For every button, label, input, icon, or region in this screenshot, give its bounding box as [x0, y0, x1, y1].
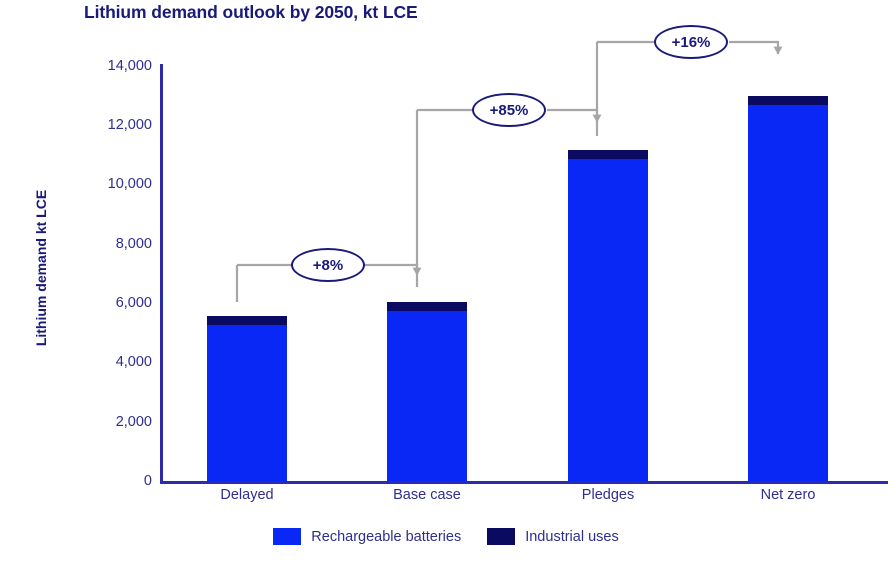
annotation-badge-delta-3: +16% — [654, 25, 728, 59]
bar-pledges[interactable] — [568, 150, 648, 481]
bar-segment[interactable] — [568, 150, 648, 159]
y-tick-label: 2,000 — [78, 414, 152, 430]
legend: Rechargeable batteries Industrial uses — [0, 528, 892, 545]
annotation-badge-delta-1: +8% — [291, 248, 365, 282]
bar-delayed[interactable] — [207, 316, 287, 481]
y-tick-label: 14,000 — [78, 58, 152, 74]
bar-segment[interactable] — [748, 105, 828, 481]
bar-segment[interactable] — [207, 316, 287, 325]
bar-segment[interactable] — [748, 96, 828, 105]
x-tick-label-net-zero: Net zero — [761, 487, 816, 503]
y-axis-tick-labels: 14,000 12,000 10,000 8,000 6,000 4,000 2… — [0, 0, 152, 565]
bar-segment[interactable] — [568, 159, 648, 481]
bar-net-zero[interactable] — [748, 96, 828, 481]
bar-segment[interactable] — [387, 302, 467, 311]
y-tick-label: 4,000 — [78, 354, 152, 370]
bar-base-case[interactable] — [387, 302, 467, 481]
plot-area — [160, 66, 884, 481]
legend-swatch-icon — [487, 528, 515, 545]
x-tick-label-base-case: Base case — [393, 487, 461, 503]
x-tick-label-pledges: Pledges — [582, 487, 634, 503]
legend-label: Rechargeable batteries — [311, 529, 461, 545]
y-tick-label: 0 — [78, 473, 152, 489]
bar-segment[interactable] — [207, 325, 287, 481]
x-tick-label-delayed: Delayed — [220, 487, 273, 503]
y-tick-label: 10,000 — [78, 176, 152, 192]
y-tick-label: 8,000 — [78, 236, 152, 252]
annotation-badge-delta-2: +85% — [472, 93, 546, 127]
x-axis-line — [160, 481, 888, 484]
y-tick-label: 6,000 — [78, 295, 152, 311]
legend-swatch-icon — [273, 528, 301, 545]
legend-item-batteries[interactable]: Rechargeable batteries — [273, 528, 461, 545]
legend-label: Industrial uses — [525, 529, 619, 545]
y-tick-label: 12,000 — [78, 117, 152, 133]
legend-item-industrial[interactable]: Industrial uses — [487, 528, 619, 545]
bar-segment[interactable] — [387, 311, 467, 481]
